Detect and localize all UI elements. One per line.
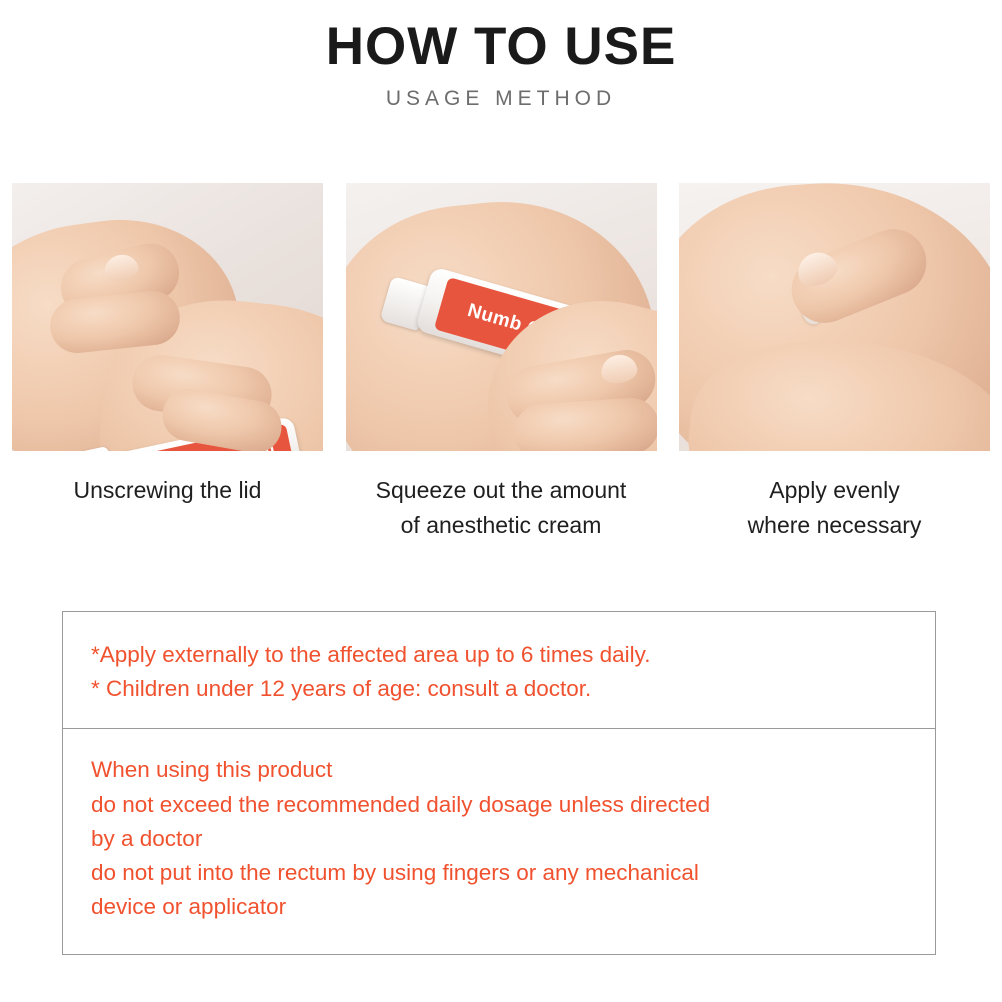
notice-usage-section: When using this product do not exceed th… <box>63 729 935 954</box>
step-2: Numb Cre Squeeze out the amount of anest… <box>346 183 657 542</box>
step-1: Numb Cream Unscrewing the lid <box>12 183 323 542</box>
step-2-caption: Squeeze out the amount of anesthetic cre… <box>346 473 657 542</box>
page-title: HOW TO USE <box>0 18 1002 75</box>
notice-line: *Apply externally to the affected area u… <box>91 638 907 672</box>
header: HOW TO USE USAGE METHOD <box>0 0 1002 111</box>
notice-line: do not exceed the recommended daily dosa… <box>91 788 907 822</box>
step-1-caption: Unscrewing the lid <box>12 473 323 508</box>
step-2-caption-line-1: Squeeze out the amount <box>346 473 657 508</box>
step-1-photo: Numb Cream <box>12 183 323 451</box>
warning-notice-box: *Apply externally to the affected area u… <box>62 611 936 955</box>
step-3-caption-line-2: where necessary <box>679 508 990 543</box>
step-2-photo: Numb Cre <box>346 183 657 451</box>
notice-line: do not put into the rectum by using fing… <box>91 856 907 890</box>
page-subtitle: USAGE METHOD <box>0 87 1002 111</box>
step-3-photo <box>679 183 990 451</box>
step-3-caption: Apply evenly where necessary <box>679 473 990 542</box>
step-3-caption-line-1: Apply evenly <box>679 473 990 508</box>
finger-shape <box>512 396 657 451</box>
notice-line: * Children under 12 years of age: consul… <box>91 672 907 706</box>
step-3: Apply evenly where necessary <box>679 183 990 542</box>
notice-line: device or applicator <box>91 890 907 924</box>
notice-line: by a doctor <box>91 822 907 856</box>
notice-dosage-section: *Apply externally to the affected area u… <box>63 612 935 729</box>
steps-row: Numb Cream Unscrewing the lid Numb Cre <box>12 183 990 542</box>
notice-line: When using this product <box>91 753 907 787</box>
step-2-caption-line-2: of anesthetic cream <box>346 508 657 543</box>
page-root: HOW TO USE USAGE METHOD Numb Cream Unscr… <box>0 0 1002 1002</box>
